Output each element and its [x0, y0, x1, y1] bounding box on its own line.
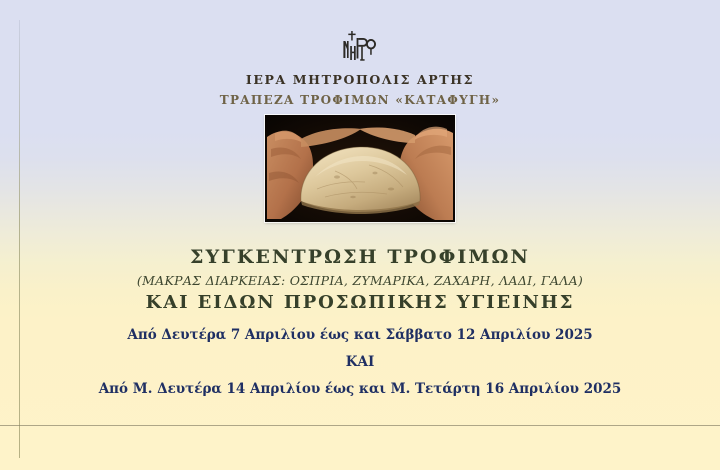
header-block: ΙΕΡΑ ΜΗΤΡΟΠΟΛΙΣ ΑΡΤΗΣ ΤΡΑΠΕΖΑ ΤΡΟΦΙΜΩΝ «… — [0, 30, 720, 107]
title-line-2-subtitle: (ΜΑΚΡΑΣ ΔΙΑΡΚΕΙΑΣ: ΟΣΠΡΙΑ, ΖΥΜΑΡΙΚΑ, ΖΑΧ… — [0, 273, 720, 288]
organization-program-name: ΤΡΑΠΕΖΑ ΤΡΟΦΙΜΩΝ «ΚΑΤΑΦΥΓΗ» — [0, 93, 720, 107]
poster-canvas: ΙΕΡΑ ΜΗΤΡΟΠΟΛΙΣ ΑΡΤΗΣ ΤΡΑΠΕΖΑ ΤΡΟΦΙΜΩΝ «… — [0, 0, 720, 470]
organization-name: ΙΕΡΑ ΜΗΤΡΟΠΟΛΙΣ ΑΡΤΗΣ — [0, 72, 720, 87]
date-period-first: Από Δευτέρα 7 Απριλίου έως και Σάββατο 1… — [0, 327, 720, 343]
title-block: ΣΥΓΚΕΝΤΡΩΣΗ ΤΡΟΦΙΜΩΝ (ΜΑΚΡΑΣ ΔΙΑΡΚΕΙΑΣ: … — [0, 246, 720, 313]
photo-illustration — [265, 115, 455, 222]
date-period-second: Από Μ. Δευτέρα 14 Απριλίου έως και Μ. Τε… — [0, 381, 720, 397]
title-line-3: ΚΑΙ ΕΙΔΩΝ ΠΡΟΣΩΠΙΚΗΣ ΥΓΙΕΙΝΗΣ — [0, 292, 720, 313]
date-conjunction: ΚΑΙ — [0, 354, 720, 370]
byzantine-monogram-emblem-icon — [338, 30, 382, 66]
dates-block: Από Δευτέρα 7 Απριλίου έως και Σάββατο 1… — [0, 327, 720, 397]
horizontal-rule-decoration — [0, 425, 720, 426]
photo-hands-holding-bread — [265, 115, 455, 222]
title-line-1: ΣΥΓΚΕΝΤΡΩΣΗ ΤΡΟΦΙΜΩΝ — [0, 246, 720, 268]
